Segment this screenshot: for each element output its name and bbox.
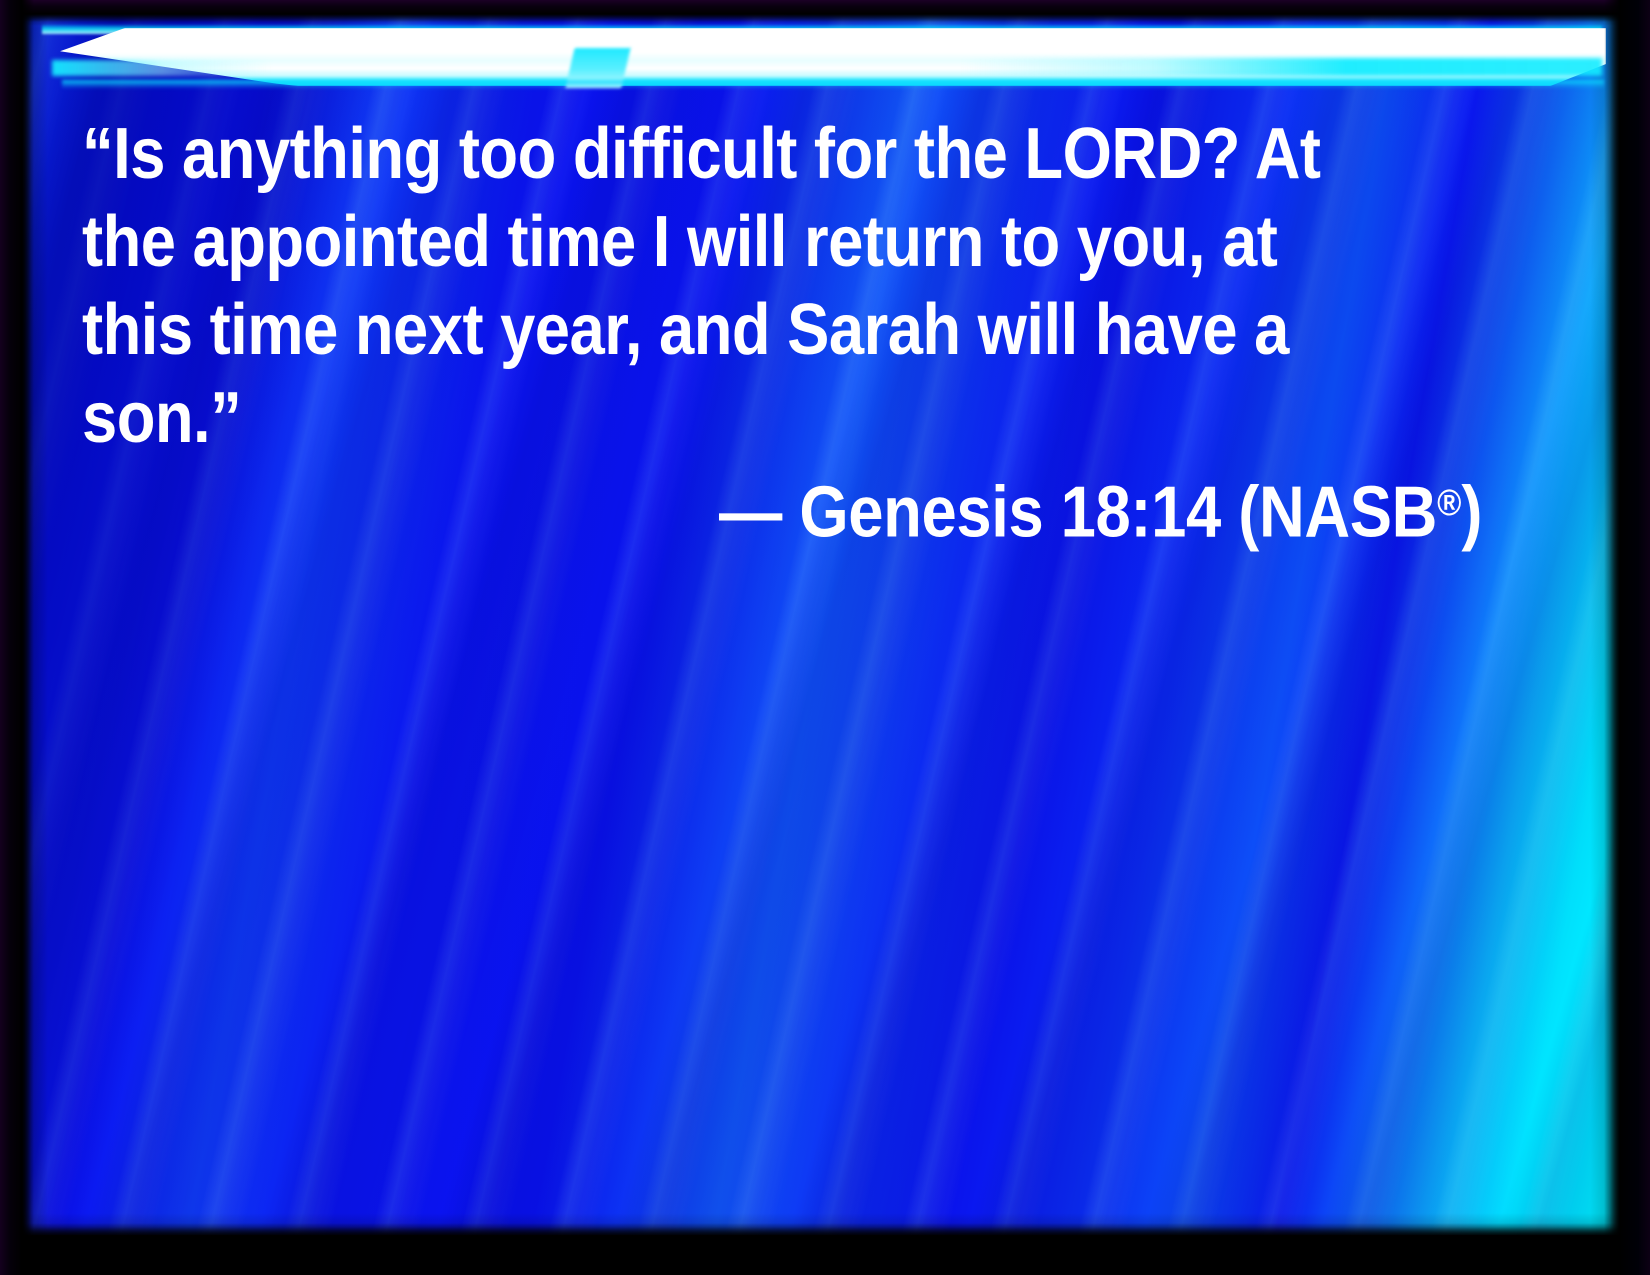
registered-trademark-icon: ® [1437,481,1461,523]
slide-stage: “Is anything too difficult for the LORD?… [22,14,1620,1235]
attribution-translation: NASB [1259,473,1437,553]
verse-attribution: — Genesis 18:14 (NASB®) [82,458,1482,557]
attribution-reference: Genesis 18:14 [799,473,1221,553]
verse-line-3: this time next year, and Sarah will have… [82,286,1314,374]
verse-attribution-inner: — Genesis 18:14 (NASB®) [719,458,1482,557]
slide-content: “Is anything too difficult for the LORD?… [22,14,1620,1235]
attribution-open-paren: ( [1238,473,1259,553]
verse-quote-block: “Is anything too difficult for the LORD?… [82,110,1482,462]
attribution-close-paren: ) [1461,473,1482,553]
scripture-slide: “Is anything too difficult for the LORD?… [0,0,1650,1275]
verse-line-1: “Is anything too difficult for the LORD?… [82,110,1314,198]
verse-line-4: son.” [82,374,1314,462]
attribution-dash: — [719,473,782,553]
verse-line-2: the appointed time I will return to you,… [82,198,1314,286]
